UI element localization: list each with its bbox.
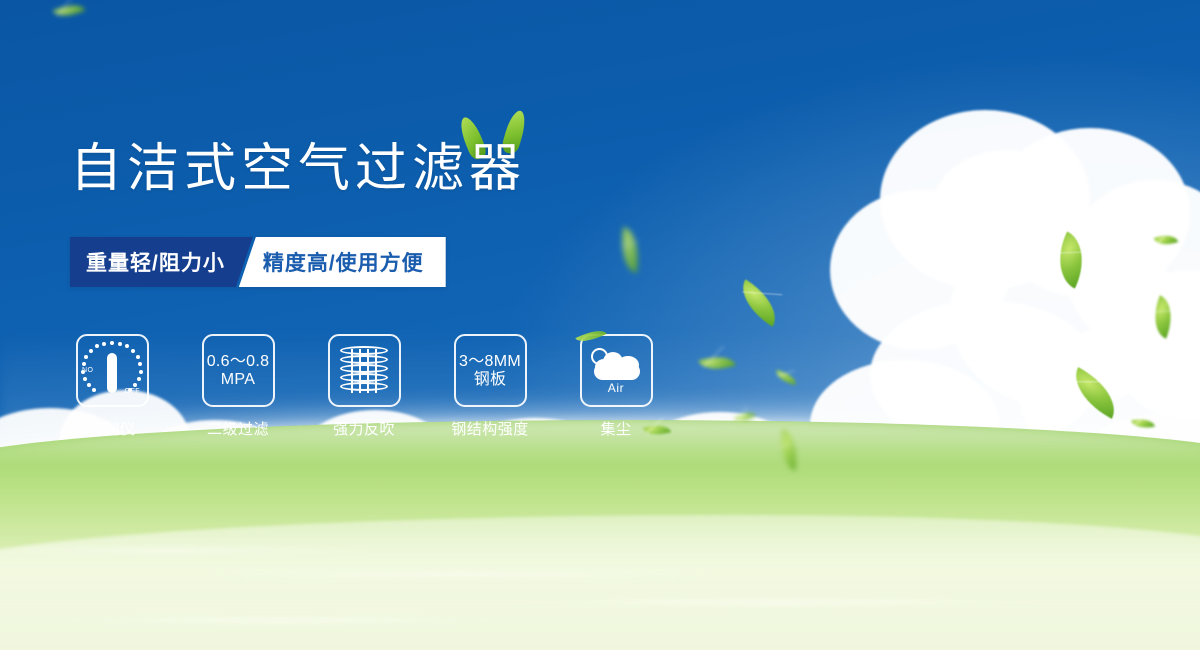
floating-leaf	[1154, 231, 1179, 250]
floating-leaf	[732, 279, 786, 326]
feature-icon-box: NO OFF	[76, 334, 149, 407]
floating-leaf	[774, 370, 798, 385]
feature-label: 钢结构强度	[451, 418, 529, 439]
pressure-value-line1: 0.6～0.8	[207, 353, 270, 371]
leaf-icon	[575, 325, 606, 347]
airflow-rings-icon	[340, 346, 388, 396]
gauge-needle	[107, 353, 117, 393]
feature-item-controller[interactable]: NO OFF 控制仪	[70, 334, 154, 439]
floating-leaf	[1046, 231, 1096, 288]
gauge-on-label: NO	[82, 367, 94, 374]
steel-thickness-line1: 3～8MM	[459, 353, 521, 371]
gauge-dial-icon: NO OFF	[81, 340, 143, 402]
feature-item-steel-strength[interactable]: 3～8MM 钢板 钢结构强度	[448, 334, 532, 439]
feature-item-secondary-filter[interactable]: 0.6～0.8 MPA 二级过滤	[196, 334, 280, 439]
feature-icon-box: Air	[580, 334, 653, 407]
subtitle-right-panel: 精度高/使用方便	[239, 237, 446, 287]
air-cloud-icon	[589, 346, 643, 380]
subtitle-bar: 重量轻/阻力小 精度高/使用方便	[70, 237, 446, 287]
floating-leaf	[53, 0, 86, 23]
subtitle-left-panel: 重量轻/阻力小	[70, 237, 253, 287]
feature-icon-box: 3～8MM 钢板	[454, 334, 527, 407]
feature-item-blowback[interactable]: 强力反吹	[322, 334, 406, 439]
feature-label: 强力反吹	[333, 418, 395, 439]
floating-leaf	[617, 227, 643, 273]
pressure-value-line2: MPA	[221, 371, 255, 389]
feature-icon-box	[328, 334, 401, 407]
feature-label: 二级过滤	[207, 418, 269, 439]
floating-leaf	[1131, 416, 1155, 431]
feature-label: 集尘	[600, 418, 631, 439]
feature-item-dust-collection[interactable]: Air 集尘	[574, 334, 658, 439]
steel-thickness-line2: 钢板	[474, 371, 507, 389]
floating-leaf	[698, 350, 735, 376]
feature-label: 控制仪	[89, 418, 136, 439]
floating-leaf	[1146, 295, 1181, 338]
grass-foreground	[0, 515, 1200, 650]
page-title: 自洁式空气过滤器	[70, 143, 526, 195]
gauge-off-label: OFF	[125, 388, 141, 395]
feature-list: NO OFF 控制仪 0.6～0.8 MPA 二级过滤	[70, 334, 658, 439]
product-hero-banner: 自洁式空气过滤器 重量轻/阻力小 精度高/使用方便	[0, 0, 1200, 650]
feature-icon-box: 0.6～0.8 MPA	[202, 334, 275, 407]
air-label: Air	[608, 381, 624, 395]
floating-leaf	[1064, 367, 1126, 419]
